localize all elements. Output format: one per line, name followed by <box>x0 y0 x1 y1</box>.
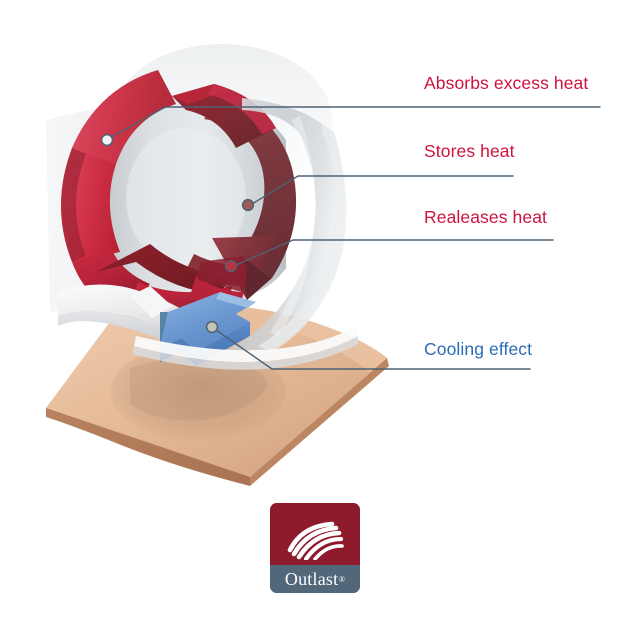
label-cooling-effect: Cooling effect <box>424 341 532 359</box>
logo-brand-text: Outlast® <box>270 565 360 593</box>
diagram-canvas: Absorbs excess heat Stores heat Realease… <box>0 0 625 625</box>
anchor-cooling <box>207 322 218 333</box>
label-realeases-heat: Realeases heat <box>424 209 547 227</box>
label-absorbs-excess-heat: Absorbs excess heat <box>424 75 588 93</box>
anchor-stores <box>243 200 254 211</box>
logo-card: Outlast® <box>270 503 360 593</box>
outlast-swoosh-mark <box>286 520 344 560</box>
anchor-releases <box>226 261 237 272</box>
label-stores-heat: Stores heat <box>424 143 515 161</box>
logo-registered-mark: ® <box>339 575 345 584</box>
logo-brand-word: Outlast <box>285 569 338 590</box>
outlast-logo: Outlast® <box>270 503 360 593</box>
logo-name-band: Outlast® <box>270 565 360 593</box>
anchor-absorbs <box>102 135 113 146</box>
